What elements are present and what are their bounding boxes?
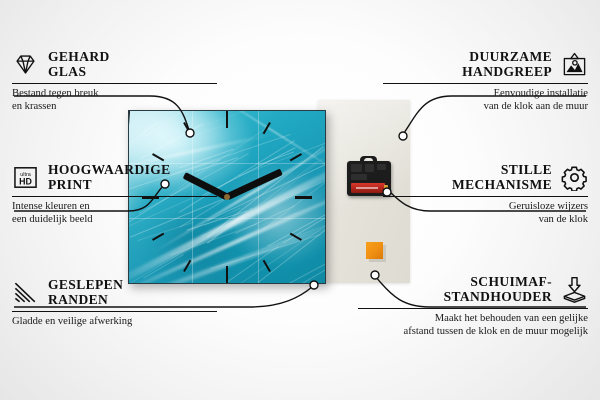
feature-title-line1: GESLEPEN [48, 277, 123, 292]
feature-divider [383, 196, 588, 197]
feature-title-line2: GLAS [48, 64, 86, 79]
feature-desc-line2: een duidelijk beeld [12, 214, 93, 225]
feature-desc-line1: Geruisloze wijzers [509, 201, 588, 212]
feature-title-line2: PRINT [48, 177, 92, 192]
feature-desc-line1: Eenvoudige installatie [494, 88, 588, 99]
feature-stille-mechanisme: STILLE MECHANISME Geruisloze wijzers van… [383, 163, 588, 226]
ultra-hd-icon: ultra HD [12, 164, 39, 191]
svg-text:HD: HD [19, 176, 32, 186]
gear-icon [561, 164, 588, 191]
feature-title-line1: SCHUIMAF- [470, 274, 552, 289]
foam-spacer [366, 242, 383, 259]
feature-divider [358, 308, 588, 309]
feature-title-line2: MECHANISME [452, 177, 552, 192]
feature-divider [12, 196, 217, 197]
feature-desc-line2: en krassen [12, 101, 56, 112]
feature-desc-line1: Intense kleuren en [12, 201, 90, 212]
feature-divider [12, 83, 217, 84]
feature-gehard-glas: GEHARD GLAS Bestand tegen breuk en krass… [12, 50, 217, 113]
feature-desc-line1: Bestand tegen breuk [12, 88, 99, 99]
hanging-frame-icon [561, 51, 588, 78]
feature-desc-line2: afstand tussen de klok en de muur mogeli… [404, 326, 588, 337]
feature-title-line2: RANDEN [48, 292, 108, 307]
infographic-canvas: GEHARD GLAS Bestand tegen breuk en krass… [0, 0, 600, 400]
feature-desc-line2: van de klok aan de muur [484, 101, 588, 112]
beveled-edge-icon [12, 279, 39, 306]
feature-title-line1: DUURZAME [469, 49, 552, 64]
feature-desc-line2: van de klok [539, 214, 588, 225]
feature-schuimaf-standhouder: SCHUIMAF- STANDHOUDER Maakt het behouden… [358, 275, 588, 338]
feature-duurzame-handgreep: DUURZAME HANDGREEP Eenvoudige installati… [383, 50, 588, 113]
battery [351, 183, 385, 193]
feature-hoogwaardige-print: ultra HD HOOGWAARDIGE PRINT Intense kleu… [12, 163, 217, 226]
feature-divider [12, 311, 217, 312]
press-down-icon [561, 276, 588, 303]
feature-desc-line1: Maakt het behouden van een gelijke [435, 313, 588, 324]
feature-divider [383, 83, 588, 84]
feature-desc-line1: Gladde en veilige afwerking [12, 316, 132, 327]
feature-title-line1: GEHARD [48, 49, 110, 64]
diamond-icon [12, 51, 39, 78]
feature-title-line1: HOOGWAARDIGE [48, 162, 171, 177]
feature-title-line1: STILLE [501, 162, 552, 177]
feature-title-line2: HANDGREEP [462, 64, 552, 79]
clock-center-cap [224, 194, 230, 200]
feature-geslepen-randen: GESLEPEN RANDEN Gladde en veilige afwerk… [12, 278, 217, 329]
feature-title-line2: STANDHOUDER [444, 289, 552, 304]
